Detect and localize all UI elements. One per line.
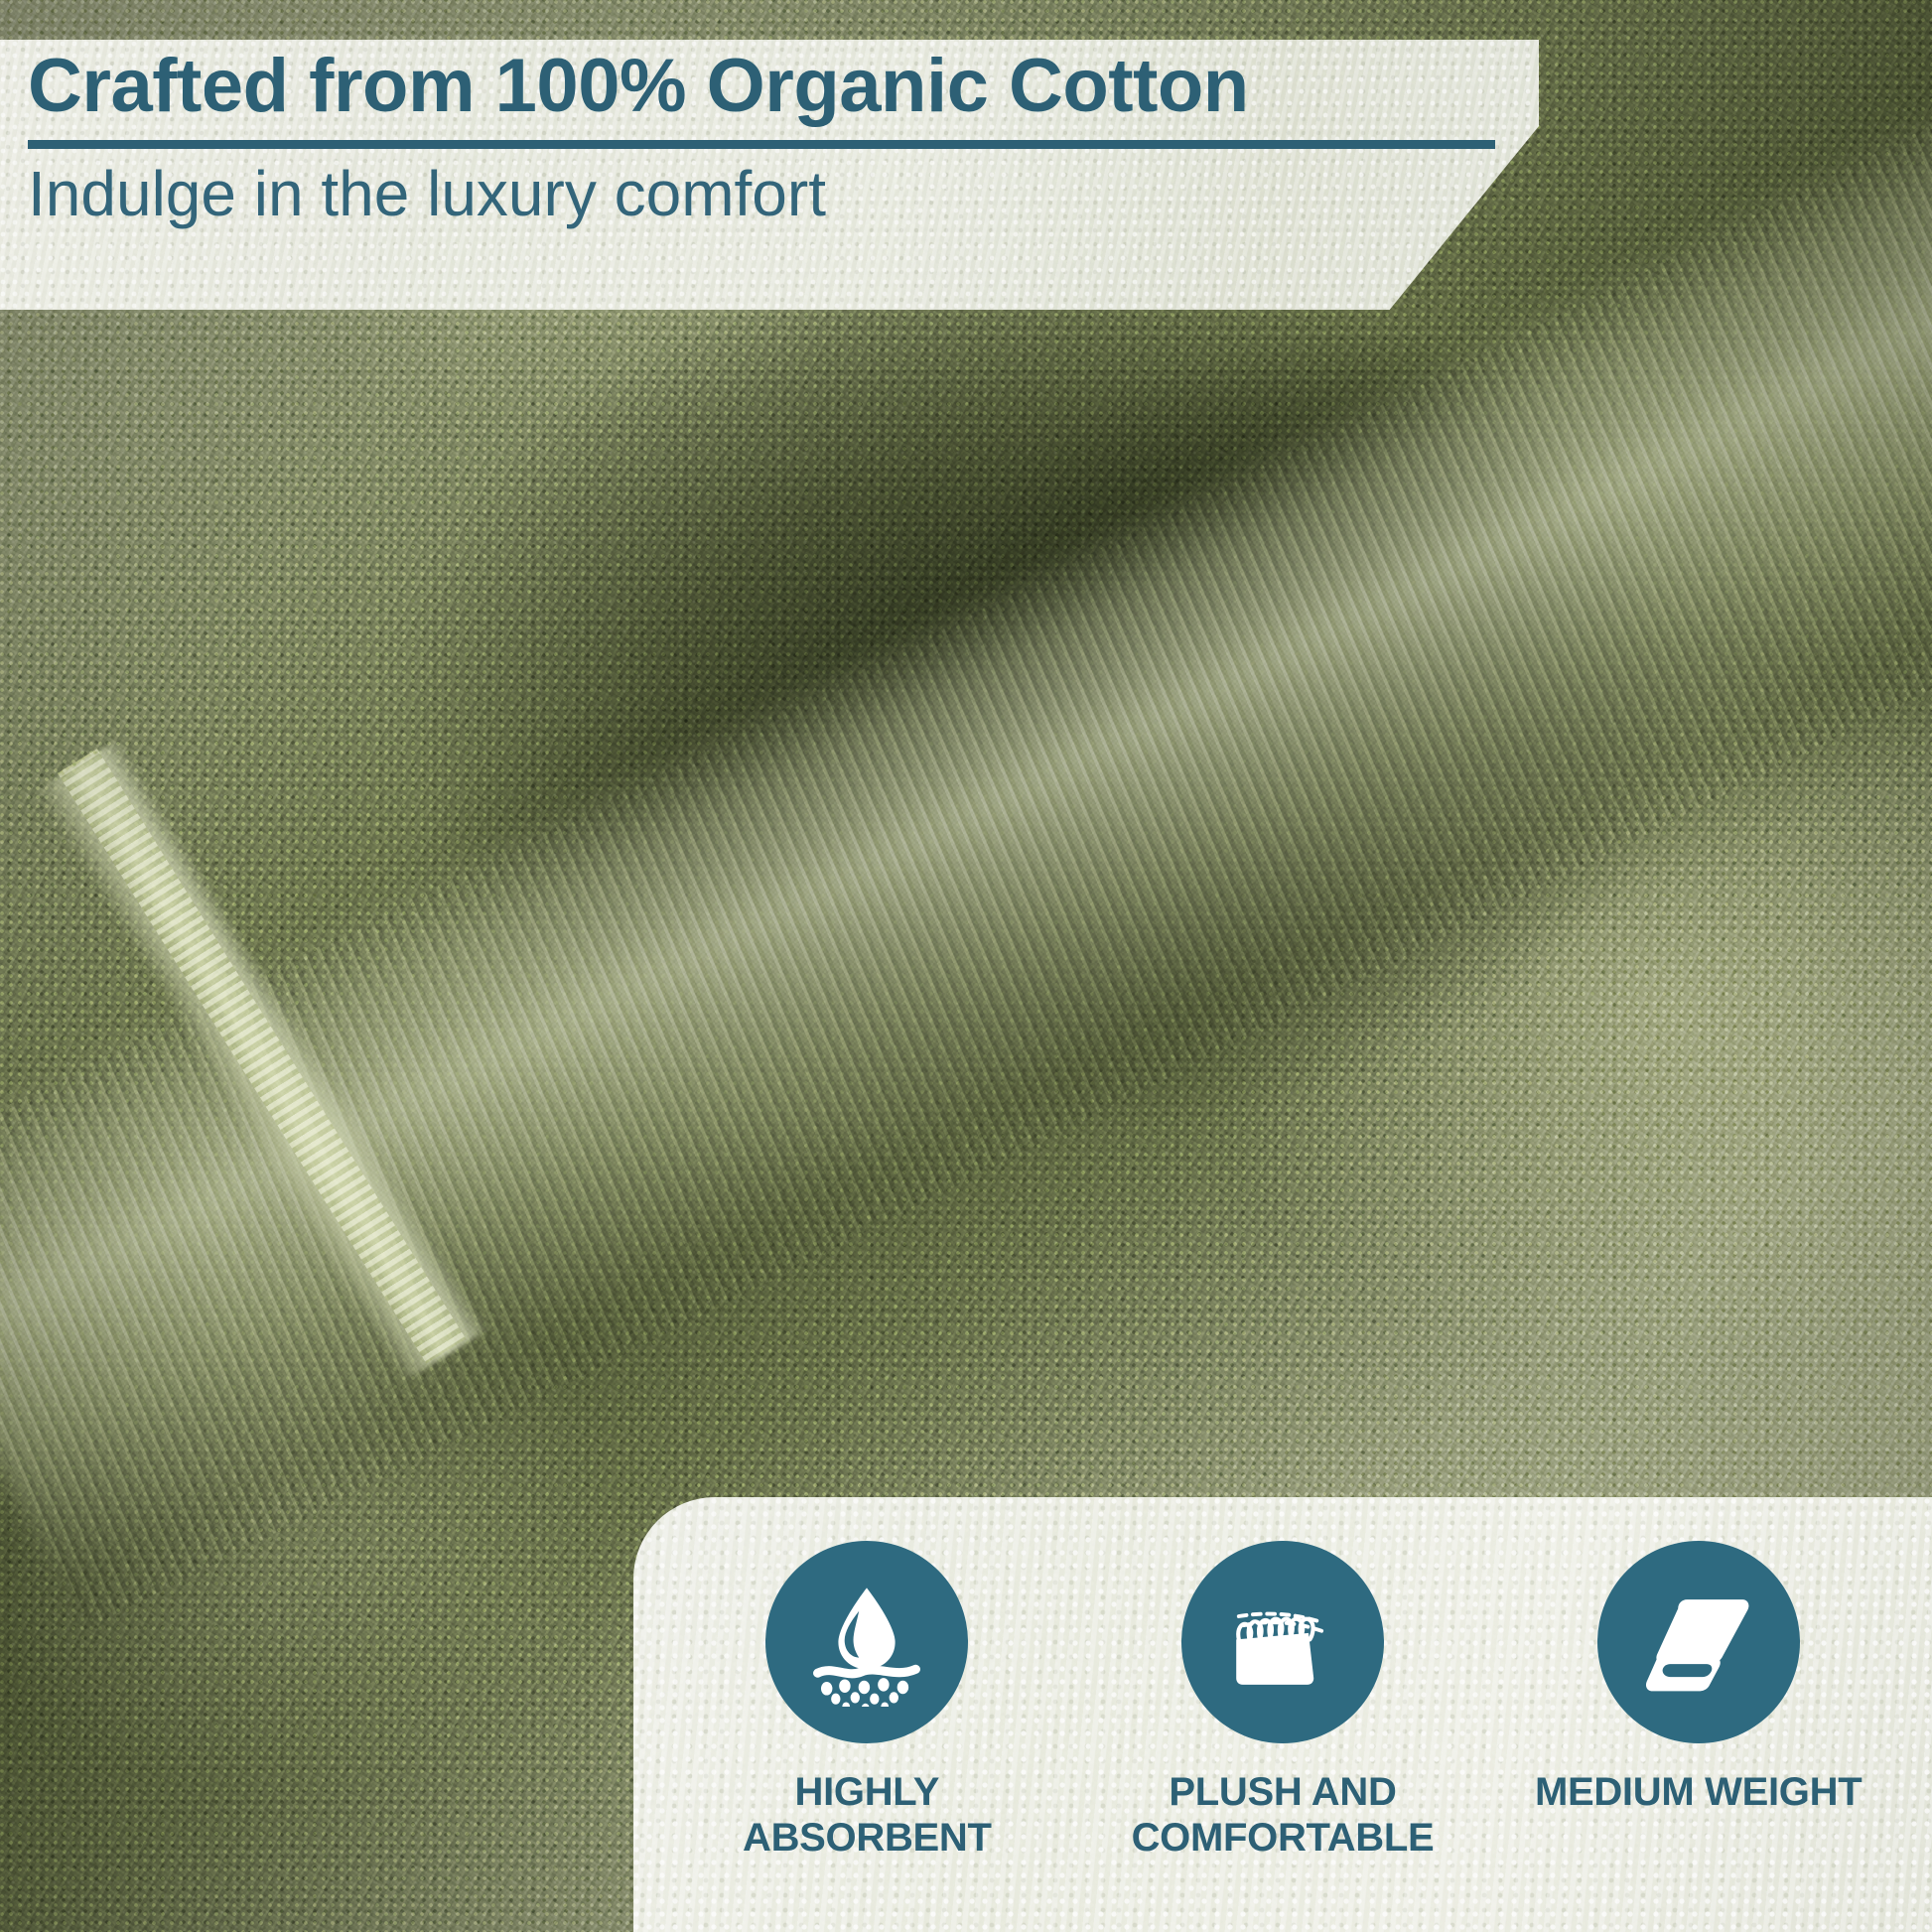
feature-badge-circle <box>1181 1541 1384 1743</box>
feature-panel: HIGHLY ABSORBENT <box>633 1497 1932 1932</box>
folded-towel-icon <box>1634 1578 1763 1707</box>
banner-content: Crafted from 100% Organic Cotton Indulge… <box>0 40 1539 310</box>
headline-divider-rule <box>28 140 1495 149</box>
feature-item-medium-weight: MEDIUM WEIGHT <box>1535 1541 1863 1815</box>
feature-badge-circle <box>765 1541 968 1743</box>
water-droplet-absorbent-icon <box>802 1578 931 1707</box>
header-banner: Crafted from 100% Organic Cotton Indulge… <box>0 40 1539 310</box>
feature-badge-circle <box>1597 1541 1800 1743</box>
feature-label: PLUSH AND COMFORTABLE <box>1132 1769 1435 1862</box>
feature-item-highly-absorbent: HIGHLY ABSORBENT <box>703 1541 1031 1862</box>
feature-item-plush-comfortable: PLUSH AND COMFORTABLE <box>1119 1541 1447 1862</box>
feature-list: HIGHLY ABSORBENT <box>633 1497 1932 1932</box>
feature-label: MEDIUM WEIGHT <box>1535 1769 1862 1815</box>
plush-pile-fabric-icon <box>1218 1578 1347 1707</box>
product-marketing-image: Crafted from 100% Organic Cotton Indulge… <box>0 0 1932 1932</box>
headline-text: Crafted from 100% Organic Cotton <box>28 44 1539 128</box>
feature-label: HIGHLY ABSORBENT <box>743 1769 992 1862</box>
subheadline-text: Indulge in the luxury comfort <box>28 159 1539 228</box>
